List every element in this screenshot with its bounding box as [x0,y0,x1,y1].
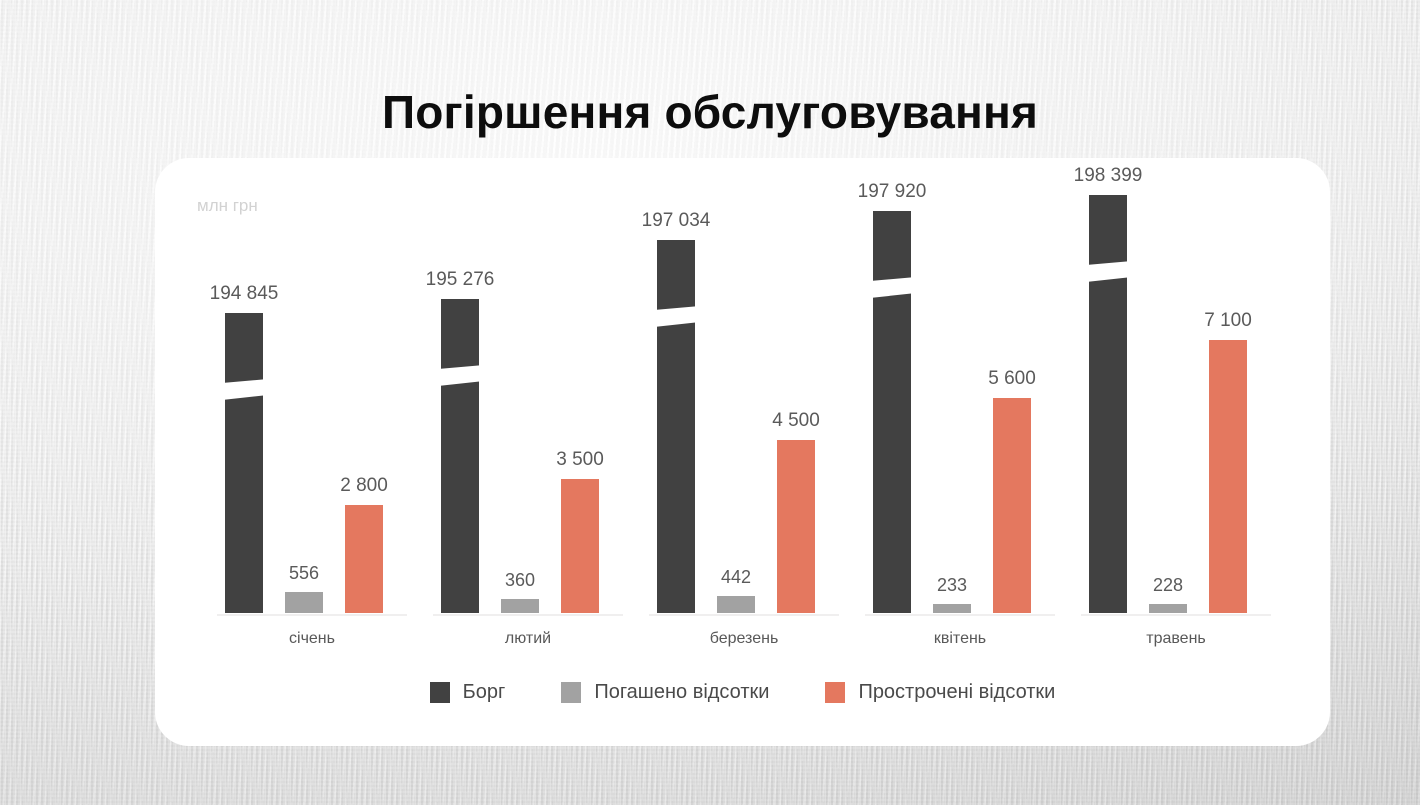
legend-item-0[interactable]: Борг [430,681,506,704]
legend-label: Борг [463,681,506,704]
value-label-overdue-3: 5 600 [988,368,1036,390]
bar-fill [933,604,971,613]
category-label-4: травень [1081,630,1271,648]
value-label-paid-0: 556 [289,563,319,584]
bar-fill [561,479,599,613]
bar-group-4: 198 3992287 100травень [1081,193,1271,613]
value-label-overdue-0: 2 800 [340,475,388,497]
bar-fill [1089,195,1127,613]
bar-fill [657,240,695,613]
bar-fill [777,440,815,613]
bar-fill [441,299,479,613]
bar-paid-4[interactable]: 228 [1149,604,1187,613]
category-label-2: березень [649,630,839,648]
bar-fill [717,596,755,613]
bar-overdue-1[interactable]: 3 500 [561,479,599,613]
bar-debt-1[interactable]: 195 276 [441,299,479,613]
bar-group-2: 197 0344424 500березень [649,193,839,613]
legend-label: Погашено відсотки [594,681,769,704]
bar-paid-3[interactable]: 233 [933,604,971,613]
group-baseline [217,614,407,616]
category-label-1: лютий [433,630,623,648]
legend-item-2[interactable]: Прострочені відсотки [825,681,1055,704]
value-label-overdue-4: 7 100 [1204,310,1252,332]
group-baseline [649,614,839,616]
bar-group-3: 197 9202335 600квітень [865,193,1055,613]
chart-legend: БоргПогашено відсоткиПрострочені відсотк… [155,681,1330,704]
value-label-debt-1: 195 276 [426,269,495,291]
bar-chart-plot-area: 194 8455562 800січень195 2763603 500люти… [155,158,1330,746]
group-baseline [865,614,1055,616]
legend-label: Прострочені відсотки [858,681,1055,704]
value-label-paid-1: 360 [505,570,535,591]
bar-overdue-3[interactable]: 5 600 [993,398,1031,613]
value-label-overdue-1: 3 500 [556,449,604,471]
bar-debt-2[interactable]: 197 034 [657,240,695,613]
legend-swatch-icon [825,682,845,703]
bar-fill [501,599,539,613]
bar-debt-3[interactable]: 197 920 [873,211,911,613]
category-label-3: квітень [865,630,1055,648]
bar-fill [1209,340,1247,613]
page-title: Погіршення обслуговування [0,86,1420,139]
bar-paid-1[interactable]: 360 [501,599,539,613]
bar-overdue-0[interactable]: 2 800 [345,505,383,613]
legend-item-1[interactable]: Погашено відсотки [561,681,769,704]
chart-card: млн грн 194 8455562 800січень195 2763603… [155,158,1330,746]
bar-fill [225,313,263,613]
bar-debt-0[interactable]: 194 845 [225,313,263,613]
bar-fill [345,505,383,613]
value-label-paid-3: 233 [937,575,967,596]
value-label-debt-2: 197 034 [642,210,711,232]
group-baseline [1081,614,1271,616]
bar-fill [1149,604,1187,613]
bar-overdue-2[interactable]: 4 500 [777,440,815,613]
value-label-debt-3: 197 920 [858,181,927,203]
legend-swatch-icon [430,682,450,703]
bar-group-1: 195 2763603 500лютий [433,193,623,613]
value-label-paid-2: 442 [721,567,751,588]
category-label-0: січень [217,630,407,648]
value-label-overdue-2: 4 500 [772,410,820,432]
bar-overdue-4[interactable]: 7 100 [1209,340,1247,613]
bar-fill [873,211,911,613]
bar-paid-2[interactable]: 442 [717,596,755,613]
value-label-paid-4: 228 [1153,575,1183,596]
bar-fill [285,592,323,613]
value-label-debt-4: 198 399 [1074,165,1143,187]
group-baseline [433,614,623,616]
legend-swatch-icon [561,682,581,703]
value-label-debt-0: 194 845 [210,283,279,305]
bar-debt-4[interactable]: 198 399 [1089,195,1127,613]
bar-fill [993,398,1031,613]
bar-paid-0[interactable]: 556 [285,592,323,613]
bar-group-0: 194 8455562 800січень [217,193,407,613]
